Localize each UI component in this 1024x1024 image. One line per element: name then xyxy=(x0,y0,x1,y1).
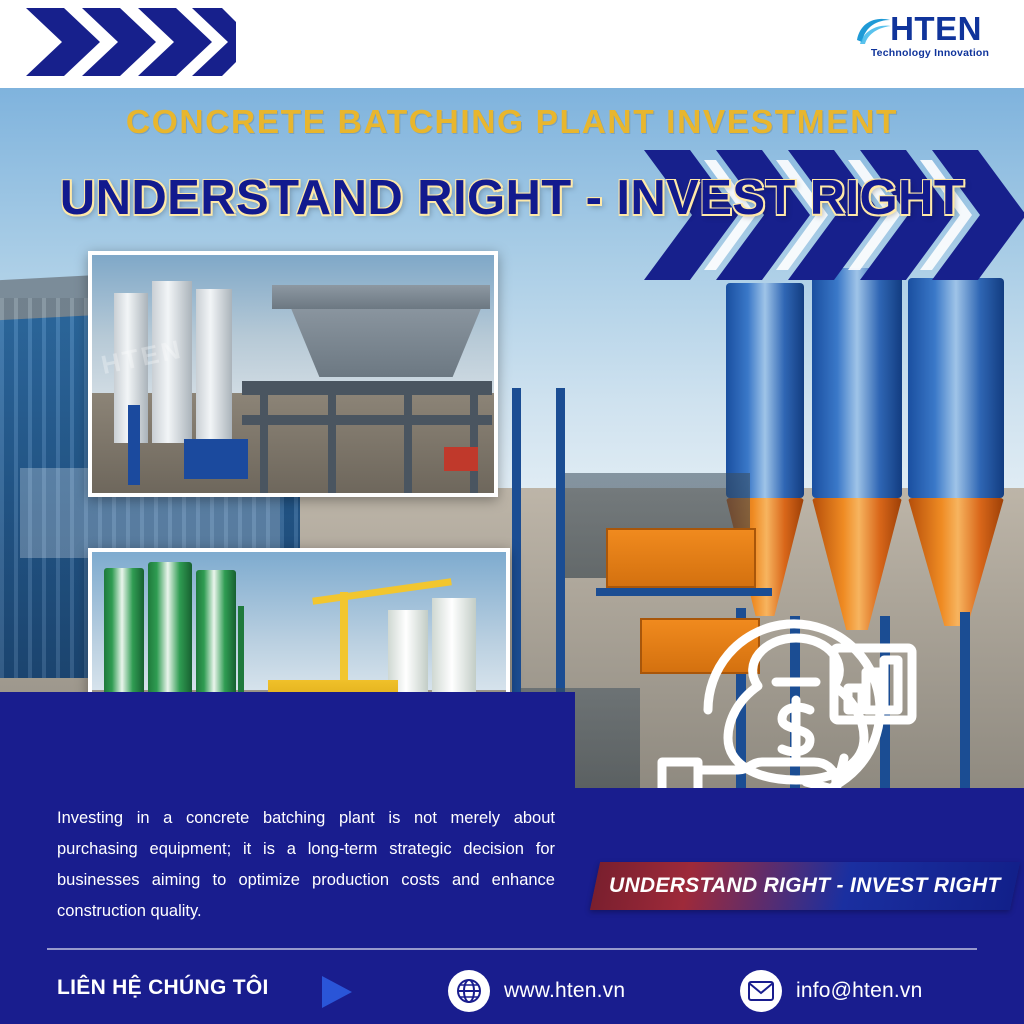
bottom-panel: Investing in a concrete batching plant i… xyxy=(0,788,1024,1024)
page-title-secondary: UNDERSTAND RIGHT - INVEST RIGHT xyxy=(0,170,1024,226)
swoosh-icon xyxy=(854,14,894,46)
slogan-ribbon-text: UNDERSTAND RIGHT - INVEST RIGHT xyxy=(609,874,1001,898)
globe-icon xyxy=(448,970,490,1012)
photo1-blue-post xyxy=(128,405,140,485)
photo1-beam-2 xyxy=(242,415,492,425)
play-triangle-icon xyxy=(322,976,352,1008)
background-stair-tower xyxy=(512,388,521,708)
email-text: info@hten.vn xyxy=(796,979,922,1003)
photo1-red-box xyxy=(444,447,478,471)
envelope-icon xyxy=(740,970,782,1012)
photo-card-grey-plant: HTEN xyxy=(88,251,498,497)
poster-root: HTEN Technology Innovation CONCRETE BATC… xyxy=(0,0,1024,1024)
background-frame-leg-4 xyxy=(960,612,970,788)
contact-website[interactable]: www.hten.vn xyxy=(448,970,625,1012)
photo1-leg-1 xyxy=(260,385,268,493)
slogan-ribbon: UNDERSTAND RIGHT - INVEST RIGHT xyxy=(590,862,1020,910)
background-silo-3 xyxy=(908,278,1004,498)
background-mixer-unit xyxy=(606,528,756,588)
brand-logo[interactable]: HTEN Technology Innovation xyxy=(850,12,1010,78)
photo1-leg-3 xyxy=(404,385,412,493)
page-title-primary: CONCRETE BATCHING PLANT INVESTMENT xyxy=(0,104,1024,142)
photo1-beam-1 xyxy=(242,381,492,395)
contact-email[interactable]: info@hten.vn xyxy=(740,970,922,1012)
background-stair-tower-2 xyxy=(556,388,565,708)
footer-divider xyxy=(47,948,977,950)
description-text: Investing in a concrete batching plant i… xyxy=(57,803,555,927)
photo1-leg-2 xyxy=(328,385,336,493)
header-bar: HTEN Technology Innovation xyxy=(0,0,1024,88)
contact-label: LIÊN HỆ CHÚNG TÔI xyxy=(57,976,269,1000)
brand-logo-tagline: Technology Innovation xyxy=(850,47,1010,59)
photo1-blue-drums xyxy=(184,439,248,479)
website-text: www.hten.vn xyxy=(504,979,625,1003)
photo1-silo-3 xyxy=(196,289,232,443)
footer-contact-row: LIÊN HỆ CHÚNG TÔI www.hten.vn xyxy=(0,958,1024,1024)
photo1-leg-4 xyxy=(470,385,478,493)
chevron-arrows-left-icon xyxy=(26,8,236,76)
background-silo-1 xyxy=(726,283,804,498)
background-silo-2 xyxy=(812,268,902,498)
